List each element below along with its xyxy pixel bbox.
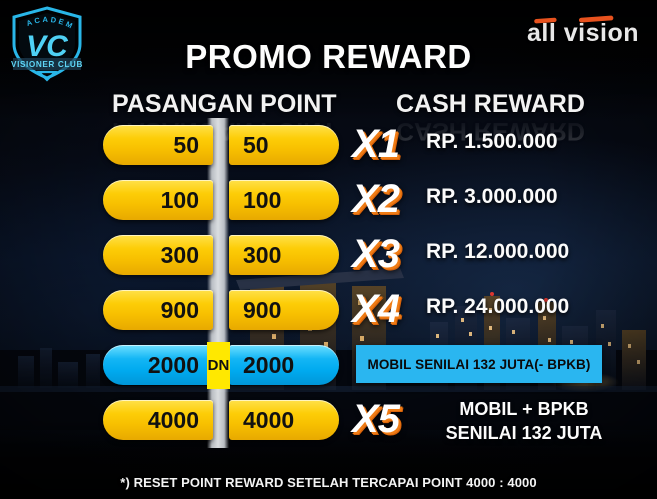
reward-rows: 50 50 X1 RP. 1.500.000 100 100 X2 RP. 3.…: [0, 122, 657, 452]
header-reward-label: CASH REWARD: [396, 90, 585, 118]
reward-line-1: MOBIL + BPKB: [404, 397, 644, 421]
reward-row: 300 300 X3 RP. 12.000.000: [0, 232, 657, 278]
page-title: PROMO REWARD: [0, 38, 657, 76]
reward-amount: RP. 24.000.000: [426, 295, 569, 319]
reward-row: 4000 4000 X5 MOBIL + BPKB SENILAI 132 JU…: [0, 397, 657, 443]
point-pill-left: 4000: [103, 400, 213, 440]
point-pill-right: 100: [229, 180, 339, 220]
point-pill-right: 300: [229, 235, 339, 275]
multiplier-badge: X4: [352, 284, 414, 334]
point-pill-left: 50: [103, 125, 213, 165]
point-pill-left: 2000: [103, 345, 213, 385]
multiplier-badge: X1: [352, 119, 414, 169]
header-points-label: PASANGAN POINT: [112, 90, 337, 118]
reward-line-2: SENILAI 132 JUTA: [404, 421, 644, 445]
brand-accent-marks: [529, 15, 641, 27]
point-pill-left: 100: [103, 180, 213, 220]
reward-row-highlighted: DN 2000 2000 MOBIL SENILAI 132 JUTA(- BP…: [0, 342, 657, 388]
multiplier-number: 1: [378, 122, 399, 166]
point-pill-left: 900: [103, 290, 213, 330]
center-tag: DN: [207, 342, 230, 389]
multiplier-prefix: X: [352, 232, 378, 276]
multiplier-prefix: X: [352, 397, 378, 441]
multiplier-prefix: X: [352, 122, 378, 166]
reward-amount: RP. 1.500.000: [426, 130, 558, 154]
promo-poster: ACADEMY VC VISIONER CLUB all vision PROM…: [0, 0, 657, 499]
multiplier-number: 3: [378, 232, 399, 276]
multiplier-badge: X3: [352, 229, 414, 279]
reward-amount: RP. 3.000.000: [426, 185, 558, 209]
multiplier-number: 2: [378, 177, 399, 221]
reward-row: 900 900 X4 RP. 24.000.000: [0, 287, 657, 333]
multiplier-prefix: X: [352, 177, 378, 221]
point-pill-right: 4000: [229, 400, 339, 440]
point-pill-left: 300: [103, 235, 213, 275]
multiplier-number: 5: [378, 397, 399, 441]
reward-row: 100 100 X2 RP. 3.000.000: [0, 177, 657, 223]
point-pill-right: 900: [229, 290, 339, 330]
reward-text-block: MOBIL + BPKB SENILAI 132 JUTA: [404, 397, 644, 445]
reward-row: 50 50 X1 RP. 1.500.000: [0, 122, 657, 168]
point-pill-right: 50: [229, 125, 339, 165]
point-pill-right: 2000: [229, 345, 339, 385]
reward-banner: MOBIL SENILAI 132 JUTA(- BPKB): [356, 345, 602, 383]
reward-amount: RP. 12.000.000: [426, 240, 569, 264]
footer-note: *) RESET POINT REWARD SETELAH TERCAPAI P…: [0, 475, 657, 490]
multiplier-number: 4: [378, 287, 399, 331]
multiplier-prefix: X: [352, 287, 378, 331]
multiplier-badge: X2: [352, 174, 414, 224]
